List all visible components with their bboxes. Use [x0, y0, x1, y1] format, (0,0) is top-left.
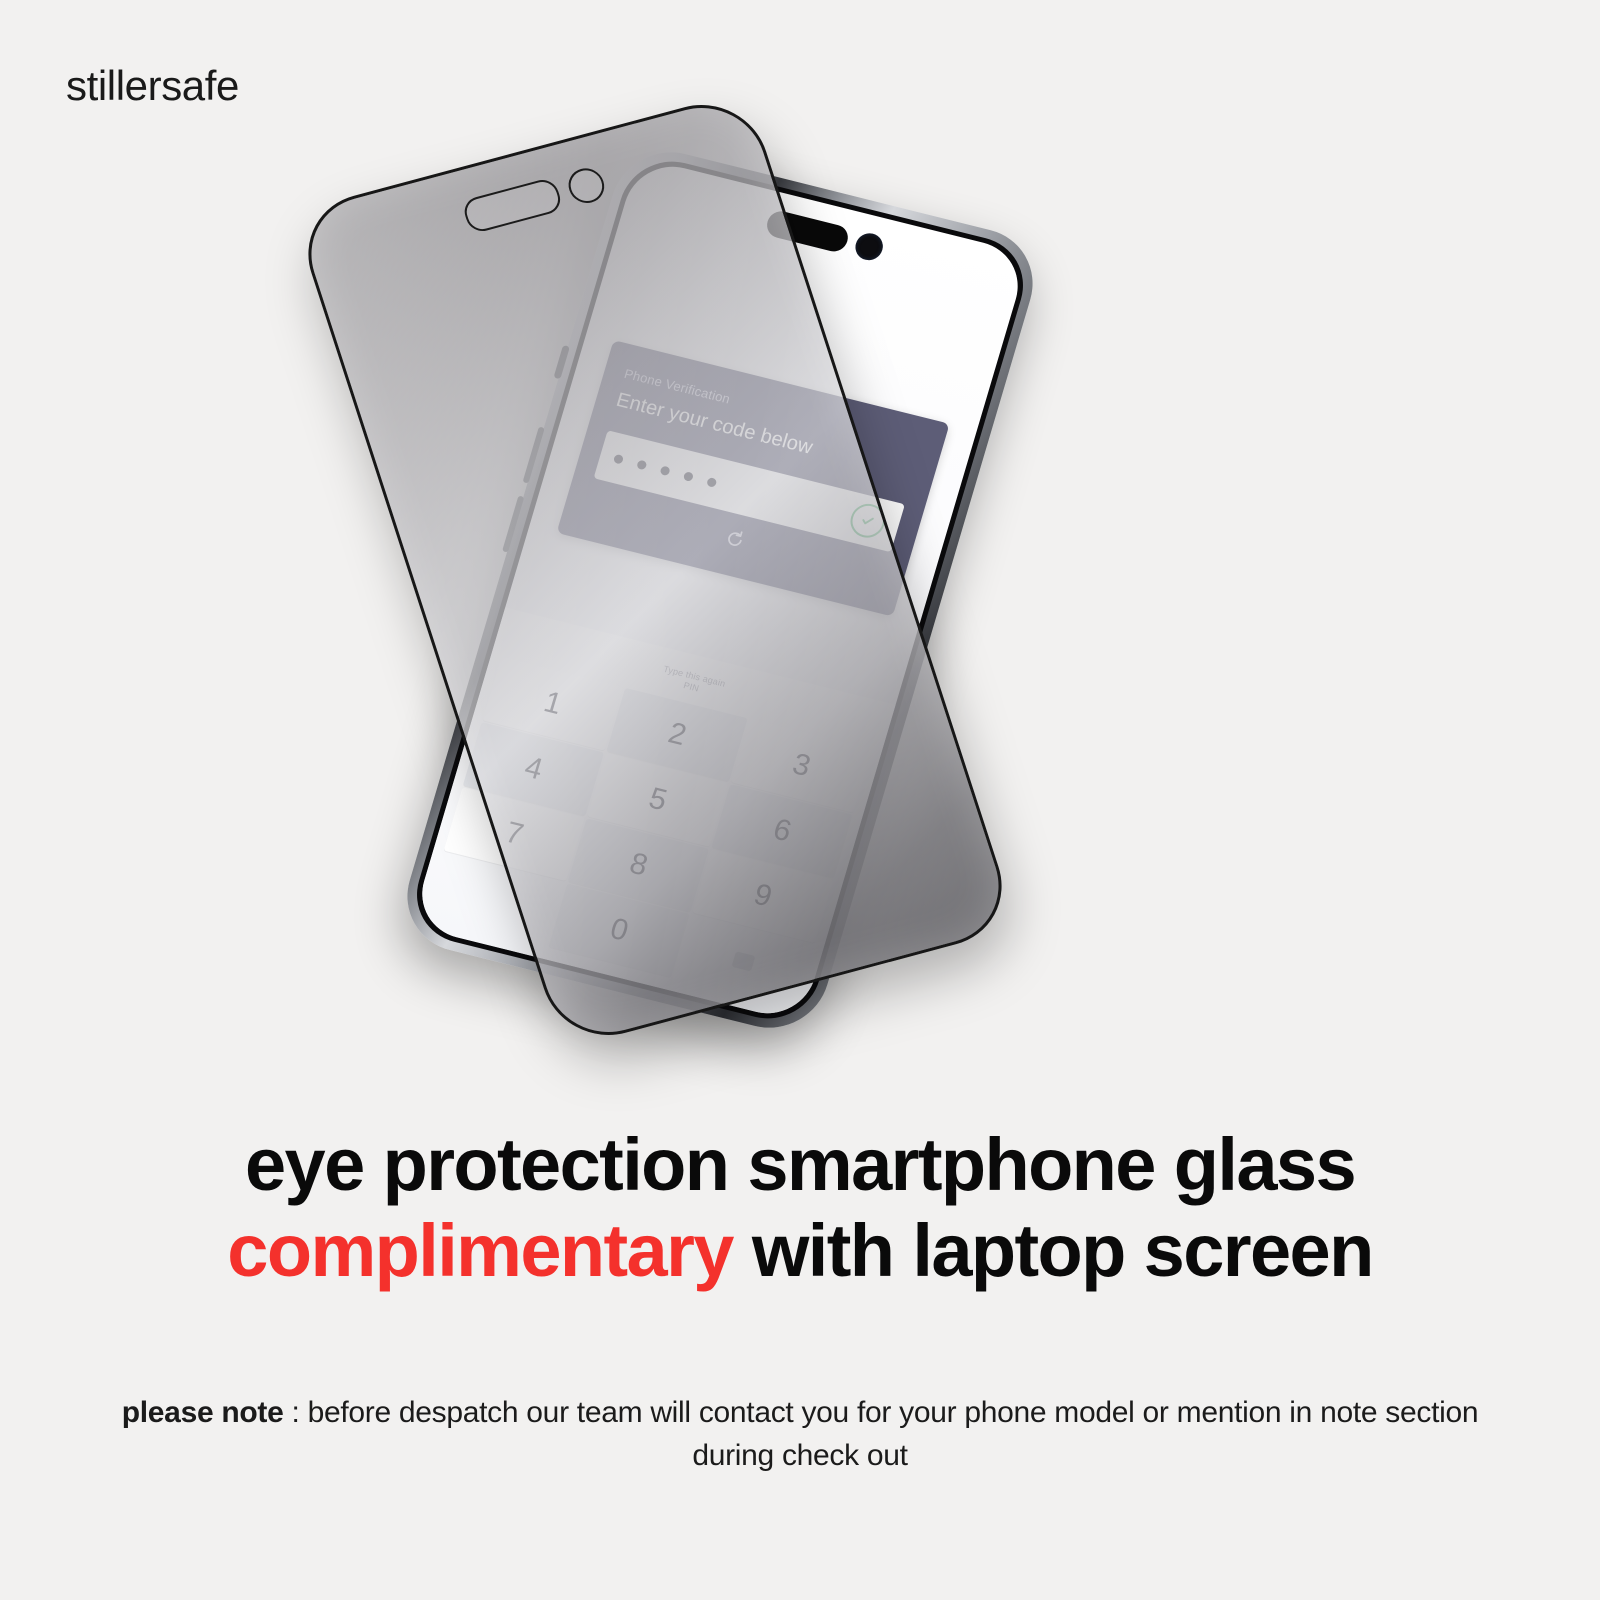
check-circle-icon [846, 500, 889, 541]
hero-product-image: Phone Verification Enter your code below [0, 120, 1600, 1080]
note-body: : before despatch our team will contact … [284, 1396, 1479, 1472]
code-dot [636, 459, 647, 470]
dynamic-island [764, 208, 886, 262]
page-headline: eye protection smartphone glass complime… [0, 1122, 1600, 1294]
code-dots [613, 453, 718, 487]
phone-verification-card: Phone Verification Enter your code below [557, 340, 950, 617]
code-dot [660, 465, 671, 476]
dynamic-island-pill-icon [764, 208, 851, 254]
please-note-text: please note : before despatch our team w… [110, 1392, 1490, 1477]
phone-bezel: Phone Verification Enter your code below [405, 151, 1036, 1029]
backspace-icon [732, 951, 756, 971]
glass-island-cutouts [461, 165, 609, 235]
phone-screen: Phone Verification Enter your code below [411, 157, 1029, 1023]
smartphone-mockup: Phone Verification Enter your code below [393, 140, 1046, 1040]
phone-frame: Phone Verification Enter your code below [393, 140, 1046, 1040]
headline-accent-word: complimentary [227, 1209, 733, 1292]
refresh-icon [721, 526, 749, 552]
code-dot [683, 471, 694, 482]
code-dot [613, 453, 624, 464]
brand-logo: stillersafe [66, 62, 239, 110]
headline-line-2: complimentary with laptop screen [0, 1208, 1600, 1294]
note-label: please note [122, 1396, 284, 1429]
front-camera-lens-icon [852, 231, 886, 263]
headline-line-1: eye protection smartphone glass [0, 1122, 1600, 1208]
camera-cutout-circle-icon [564, 165, 609, 207]
numeric-keypad: Type this again PIN 1 2 3 4 5 6 7 8 [411, 607, 896, 1023]
mute-switch-button[interactable] [553, 345, 569, 379]
island-cutout-pill-icon [461, 176, 565, 234]
code-dot [706, 477, 717, 488]
headline-line-2-rest: with laptop screen [733, 1209, 1373, 1292]
